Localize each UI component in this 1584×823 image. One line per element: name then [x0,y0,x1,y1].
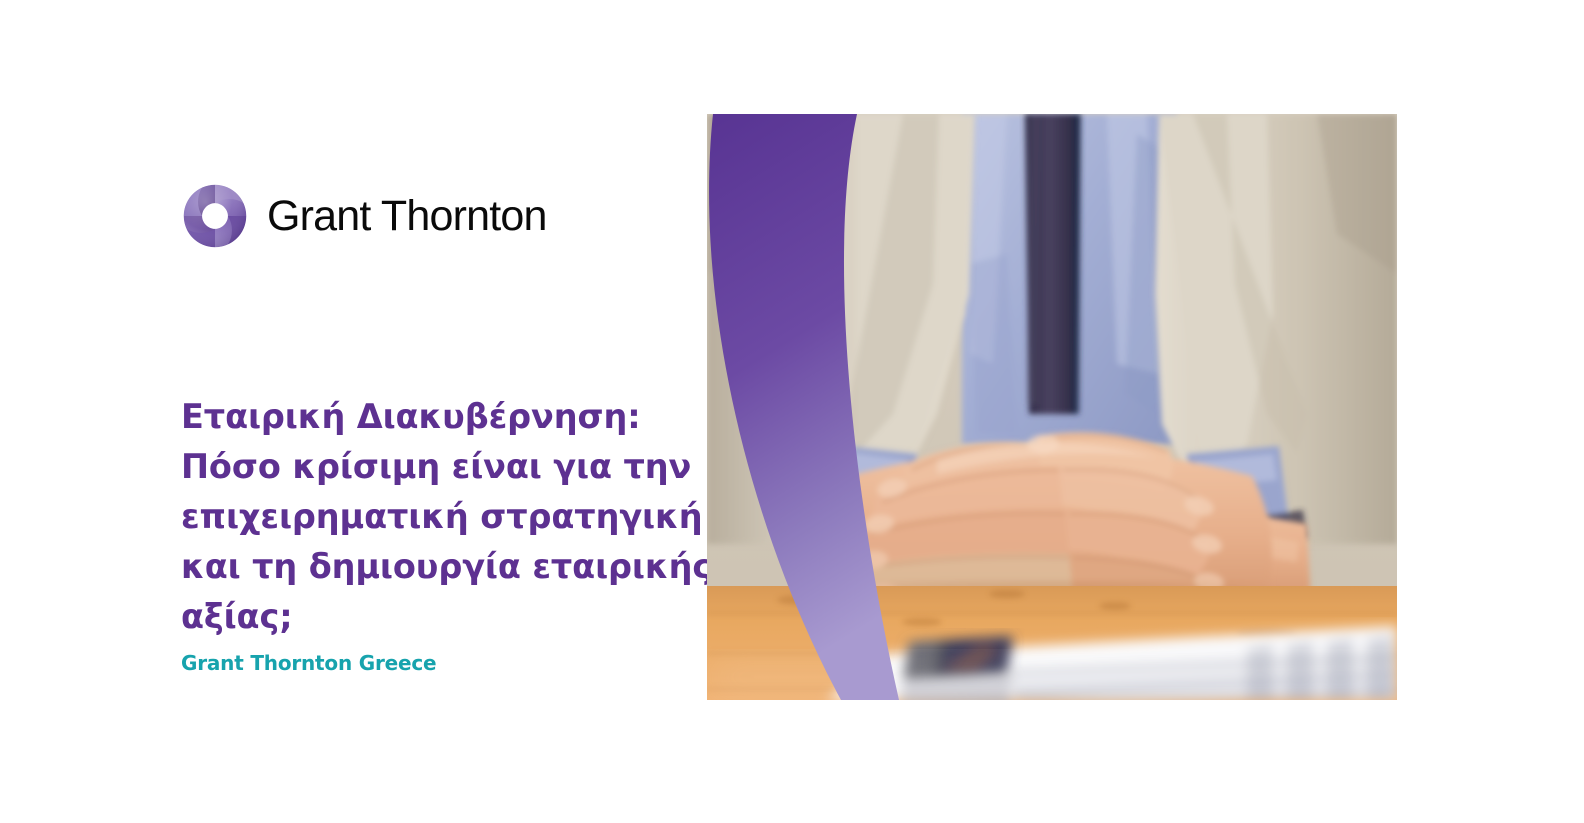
grant-thornton-swirl-icon [181,182,249,250]
subtitle-attribution: Grant Thornton Greece [181,650,436,676]
slide-canvas: Grant Thornton Εταιρική Διακυβέρνηση: Πό… [0,0,1584,823]
hero-media-panel [707,114,1397,700]
left-content-panel: Grant Thornton Εταιρική Διακυβέρνηση: Πό… [181,110,721,710]
businessman-clasped-hands-photo [707,114,1397,700]
brand-wordmark: Grant Thornton [267,195,547,238]
page-title: Εταιρική Διακυβέρνηση: Πόσο κρίσιμη είνα… [181,392,721,642]
brand-lockup: Grant Thornton [181,182,547,250]
